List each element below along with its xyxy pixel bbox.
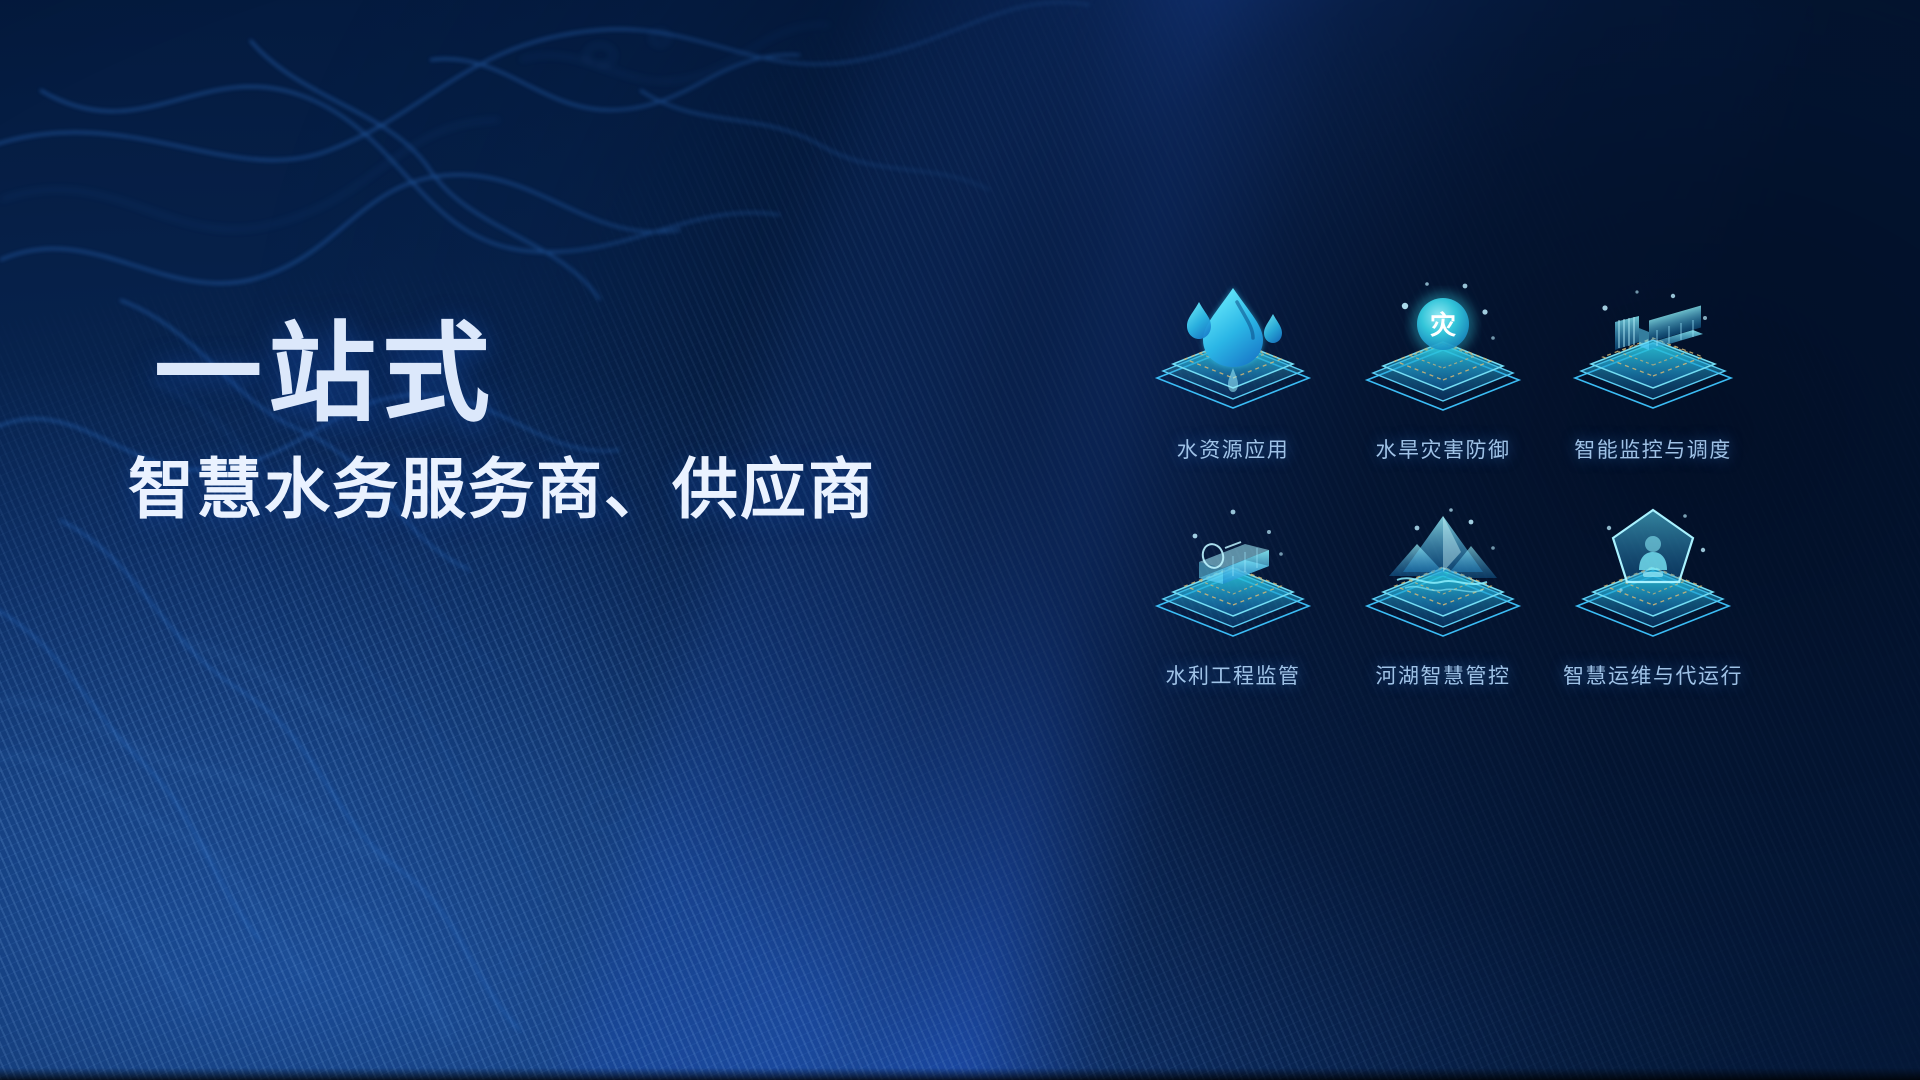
service-label: 水利工程监管 (1166, 660, 1301, 690)
service-label: 智慧运维与代运行 (1563, 660, 1743, 690)
service-item-river-lake[interactable]: 河湖智慧管控 (1338, 494, 1548, 720)
pipeline-icon (1133, 494, 1333, 654)
service-item-project-supervision[interactable]: 水利工程监管 (1128, 494, 1338, 720)
background-bottom-fade (0, 1068, 1920, 1080)
slide-canvas: 一站式 智慧水务服务商、供应商 (0, 0, 1920, 1080)
service-item-flood-drought[interactable]: 灾 水旱灾害防御 (1338, 268, 1548, 494)
dam-monitor-icon (1553, 268, 1753, 428)
service-label: 水资源应用 (1177, 434, 1290, 464)
shield-pentagon-icon (1553, 494, 1753, 654)
mountain-river-icon (1343, 494, 1543, 654)
service-icon-grid: 水资源应用 (1128, 268, 1758, 720)
service-item-smart-ops[interactable]: 智慧运维与代运行 (1548, 494, 1758, 720)
service-label: 水旱灾害防御 (1376, 434, 1511, 464)
service-item-water-resource[interactable]: 水资源应用 (1128, 268, 1338, 494)
service-item-smart-monitor[interactable]: 智能监控与调度 (1548, 268, 1758, 494)
page-subtitle: 智慧水务服务商、供应商 (128, 451, 1008, 529)
water-droplet-icon (1133, 268, 1333, 428)
page-title: 一站式 (154, 316, 1008, 433)
disaster-sphere-icon: 灾 (1343, 268, 1543, 428)
disaster-badge-text: 灾 (1430, 310, 1456, 340)
service-label: 河湖智慧管控 (1376, 660, 1511, 690)
headline-block: 一站式 智慧水务服务商、供应商 (128, 316, 1008, 529)
service-label: 智能监控与调度 (1574, 434, 1732, 464)
